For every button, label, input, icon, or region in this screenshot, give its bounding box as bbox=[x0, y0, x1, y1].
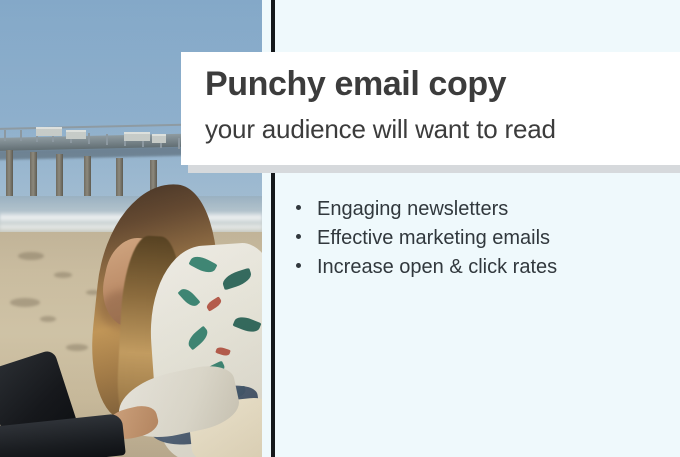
pier-post bbox=[88, 133, 90, 144]
pier-post bbox=[20, 130, 22, 141]
page-title: Punchy email copy bbox=[205, 65, 506, 104]
pier-bench bbox=[152, 134, 166, 143]
title-card: Punchy email copy your audience will wan… bbox=[181, 52, 680, 165]
pier-post bbox=[106, 134, 108, 145]
list-item-label: Effective marketing emails bbox=[317, 224, 550, 253]
pier-post bbox=[4, 130, 6, 141]
pier-bench bbox=[36, 127, 62, 136]
list-item: Engaging newsletters bbox=[296, 195, 557, 224]
bullet-dot-icon bbox=[296, 234, 301, 239]
pier-bench bbox=[66, 130, 86, 139]
sand-texture bbox=[54, 272, 72, 278]
bullet-dot-icon bbox=[296, 263, 301, 268]
page-subtitle: your audience will want to read bbox=[205, 114, 556, 145]
pier-post bbox=[178, 138, 180, 149]
sand-texture bbox=[18, 252, 44, 260]
list-item-label: Increase open & click rates bbox=[317, 253, 557, 282]
sand-texture bbox=[40, 316, 56, 322]
bullet-dot-icon bbox=[296, 205, 301, 210]
sand-texture bbox=[10, 298, 40, 307]
promo-banner: Punchy email copy your audience will wan… bbox=[0, 0, 680, 457]
feature-list: Engaging newsletters Effective marketing… bbox=[296, 195, 557, 282]
pier-bench bbox=[124, 132, 150, 141]
list-item: Increase open & click rates bbox=[296, 253, 557, 282]
list-item: Effective marketing emails bbox=[296, 224, 557, 253]
sand-texture bbox=[66, 344, 88, 351]
title-card-shadow bbox=[188, 165, 680, 173]
list-item-label: Engaging newsletters bbox=[317, 195, 508, 224]
